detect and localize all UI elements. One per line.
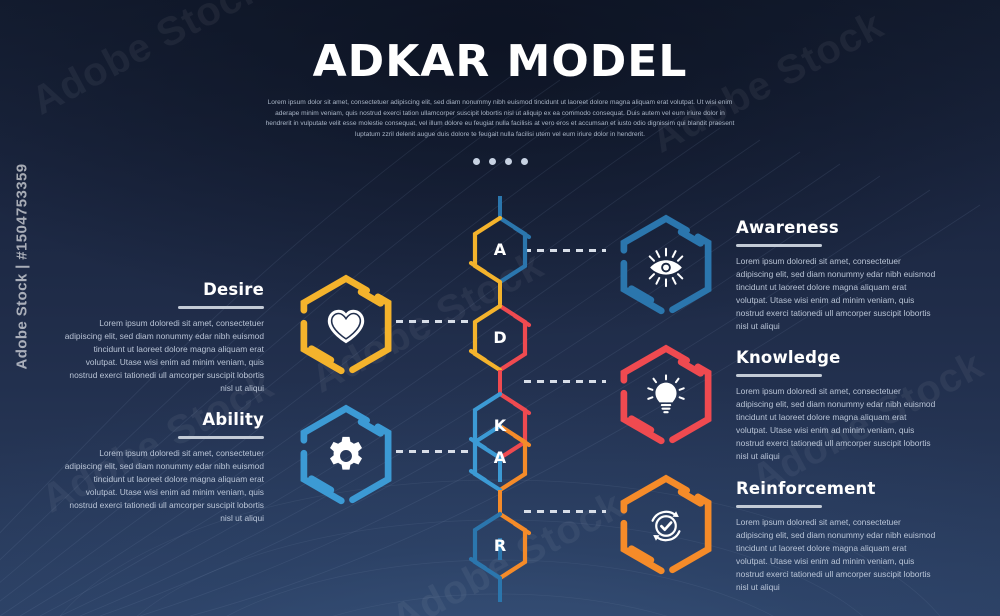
refresh-check-icon xyxy=(643,503,689,549)
section-desire: Desire Lorem ipsum doloredi sit amet, co… xyxy=(64,280,264,395)
section-text-awareness: Lorem ipsum doloredi sit amet, consectet… xyxy=(736,255,936,333)
section-title-knowledge: Knowledge xyxy=(736,348,936,367)
infographic-canvas: Adobe Stock Adobe Stock Adobe Stock Adob… xyxy=(0,0,1000,616)
hexagon-icon-awareness[interactable] xyxy=(612,212,720,325)
title-rule xyxy=(178,306,264,309)
title-rule xyxy=(178,436,264,439)
section-title-desire: Desire xyxy=(64,280,264,299)
section-text-ability: Lorem ipsum doloredi sit amet, consectet… xyxy=(64,447,264,525)
section-text-knowledge: Lorem ipsum doloredi sit amet, consectet… xyxy=(736,385,936,463)
section-knowledge: Knowledge Lorem ipsum doloredi sit amet,… xyxy=(736,348,936,463)
hexagon-icon-knowledge[interactable] xyxy=(612,342,720,455)
dot xyxy=(489,158,496,165)
hexagon-icon-ability[interactable] xyxy=(292,402,400,515)
connector-dashes-ability xyxy=(396,450,470,453)
adkar-letter-chain: A D K A R xyxy=(464,196,536,565)
section-title-reinforcement: Reinforcement xyxy=(736,479,936,498)
chain-hex-r xyxy=(471,514,529,602)
chain-hex-a2 xyxy=(471,426,529,514)
dot xyxy=(473,158,480,165)
section-title-awareness: Awareness xyxy=(736,218,936,237)
section-awareness: Awareness Lorem ipsum doloredi sit amet,… xyxy=(736,218,936,333)
connector-dashes-knowledge xyxy=(524,380,606,383)
section-reinforcement: Reinforcement Lorem ipsum doloredi sit a… xyxy=(736,479,936,594)
section-text-desire: Lorem ipsum doloredi sit amet, consectet… xyxy=(64,317,264,395)
section-ability: Ability Lorem ipsum doloredi sit amet, c… xyxy=(64,410,264,525)
connector-dashes-desire xyxy=(396,320,470,323)
section-text-reinforcement: Lorem ipsum doloredi sit amet, consectet… xyxy=(736,516,936,594)
connector-dashes-awareness xyxy=(524,249,606,252)
chain-hex-d xyxy=(471,306,529,394)
hexagon-icon-reinforcement[interactable] xyxy=(612,472,720,585)
title-rule xyxy=(736,244,822,247)
title-rule xyxy=(736,374,822,377)
connector-dashes-reinforcement xyxy=(524,510,606,513)
dot xyxy=(505,158,512,165)
title-rule xyxy=(736,505,822,508)
decorative-dots xyxy=(0,158,1000,165)
section-title-ability: Ability xyxy=(64,410,264,429)
page-title: ADKAR MODEL xyxy=(0,36,1000,87)
lightbulb-icon xyxy=(643,373,689,419)
page-subtitle: Lorem ipsum dolor sit amet, consectetuer… xyxy=(262,98,738,141)
stock-credit-label: Adobe Stock | #1504753359 xyxy=(14,137,31,397)
eye-icon xyxy=(643,243,689,289)
hexagon-icon-desire[interactable] xyxy=(292,272,400,385)
heart-icon xyxy=(323,303,369,349)
dot xyxy=(521,158,528,165)
gear-icon xyxy=(323,433,369,479)
chain-hex-a1 xyxy=(471,218,529,306)
